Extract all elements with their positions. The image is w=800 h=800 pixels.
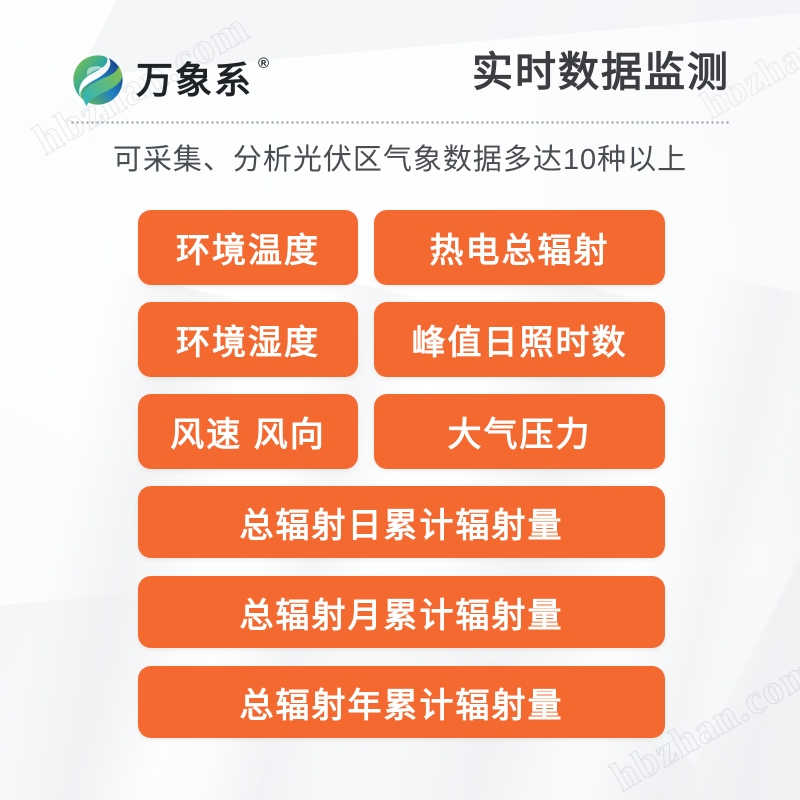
page-title: 实时数据监测 (472, 52, 730, 93)
metrics-row-wide: 总辐射日累计辐射量 (138, 486, 665, 558)
metrics-row-wide: 总辐射月累计辐射量 (138, 576, 665, 648)
metric-pill-wind-speed-direction[interactable]: 风速 风向 (138, 394, 358, 469)
metric-pill-ambient-temperature[interactable]: 环境温度 (138, 210, 358, 285)
metric-pill-daily-cumulative-radiation[interactable]: 总辐射日累计辐射量 (138, 486, 665, 558)
metric-pill-peak-sunshine-hours[interactable]: 峰值日照时数 (374, 302, 665, 377)
brand-name-text: 万象系 (136, 60, 253, 101)
header: 万象系 ® 实时数据监测 (0, 0, 800, 128)
subtitle: 可采集、分析光伏区气象数据多达10种以上 (0, 136, 800, 178)
metrics-row: 环境湿度 峰值日照时数 (138, 302, 665, 377)
registered-trademark-icon: ® (258, 56, 271, 71)
metrics-grid: 环境温度 热电总辐射 环境湿度 峰值日照时数 风速 风向 大气压力 总辐射日累计… (138, 210, 665, 756)
metrics-row-wide: 总辐射年累计辐射量 (138, 666, 665, 738)
metric-pill-monthly-cumulative-radiation[interactable]: 总辐射月累计辐射量 (138, 576, 665, 648)
metric-pill-thermopile-total-radiation[interactable]: 热电总辐射 (374, 210, 665, 285)
brand-logo: 万象系 ® (70, 52, 253, 108)
metric-pill-yearly-cumulative-radiation[interactable]: 总辐射年累计辐射量 (138, 666, 665, 738)
background-band (671, 278, 800, 800)
metrics-row: 风速 风向 大气压力 (138, 394, 665, 469)
dotted-divider (70, 121, 730, 124)
promo-banner: hbzhan.com hbzhan.com hbzhan.com (0, 0, 800, 800)
swirl-globe-logo-icon (70, 52, 126, 108)
metrics-row: 环境温度 热电总辐射 (138, 210, 665, 285)
brand-name: 万象系 ® (136, 62, 253, 99)
metric-pill-atmospheric-pressure[interactable]: 大气压力 (374, 394, 665, 469)
metric-pill-ambient-humidity[interactable]: 环境湿度 (138, 302, 358, 377)
